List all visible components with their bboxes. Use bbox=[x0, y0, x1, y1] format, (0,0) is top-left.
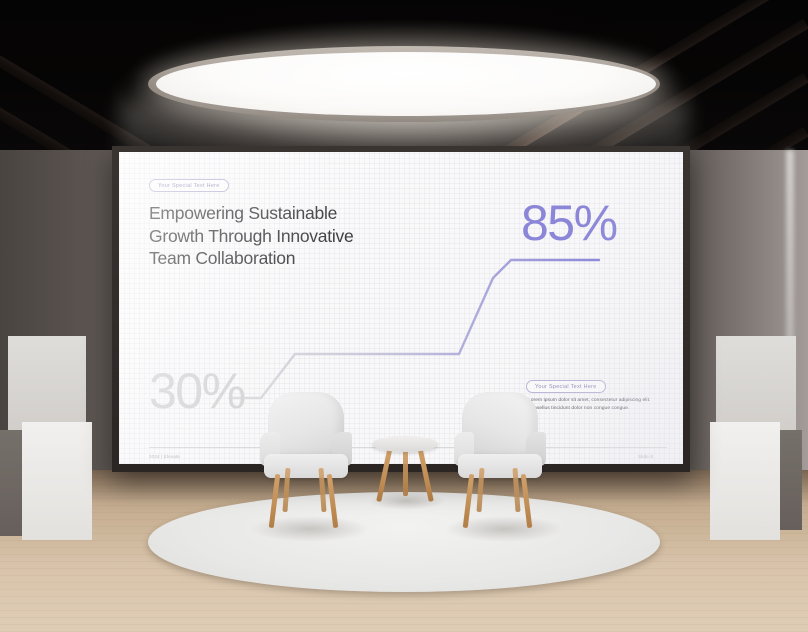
stat-start-value: 30% bbox=[149, 366, 245, 416]
stat-end-value: 85% bbox=[521, 198, 617, 248]
page-title: Empowering Sustainable Growth Through In… bbox=[149, 202, 449, 270]
pedestal-right-front-side bbox=[780, 430, 802, 530]
headline-line-3: Team Collaboration bbox=[149, 247, 449, 270]
chair-leg bbox=[269, 474, 281, 528]
armchair-left bbox=[258, 392, 354, 522]
headline-line-1: Empowering Sustainable bbox=[149, 202, 449, 225]
headline-line-2: Growth Through Innovative bbox=[149, 225, 449, 248]
chair-leg bbox=[327, 474, 339, 528]
pedestal-right-front bbox=[710, 422, 780, 540]
presentation-screen-frame: Your Special Text Here Empowering Sustai… bbox=[112, 146, 690, 472]
presentation-slide[interactable]: Your Special Text Here Empowering Sustai… bbox=[119, 152, 683, 464]
table-leg bbox=[417, 446, 433, 502]
chair-leg bbox=[521, 474, 533, 528]
round-side-table bbox=[372, 436, 438, 504]
presentation-room-scene: Your Special Text Here Empowering Sustai… bbox=[0, 0, 808, 632]
pedestal-left-front-side bbox=[0, 430, 22, 536]
armchair-right bbox=[452, 392, 548, 522]
badge-top[interactable]: Your Special Text Here bbox=[149, 179, 229, 192]
footer-left-label: 2024 | Elevate bbox=[149, 454, 180, 459]
table-leg bbox=[403, 446, 408, 496]
pedestal-left-front bbox=[22, 422, 92, 540]
footer-right-label: Slide 8 bbox=[638, 454, 653, 459]
chair-leg bbox=[463, 474, 475, 528]
table-top bbox=[372, 436, 438, 452]
body-copy: Lorem ipsum dolor sit amet, consectetur … bbox=[528, 397, 663, 413]
ceiling-light-panel bbox=[156, 52, 656, 116]
table-leg bbox=[376, 446, 392, 502]
